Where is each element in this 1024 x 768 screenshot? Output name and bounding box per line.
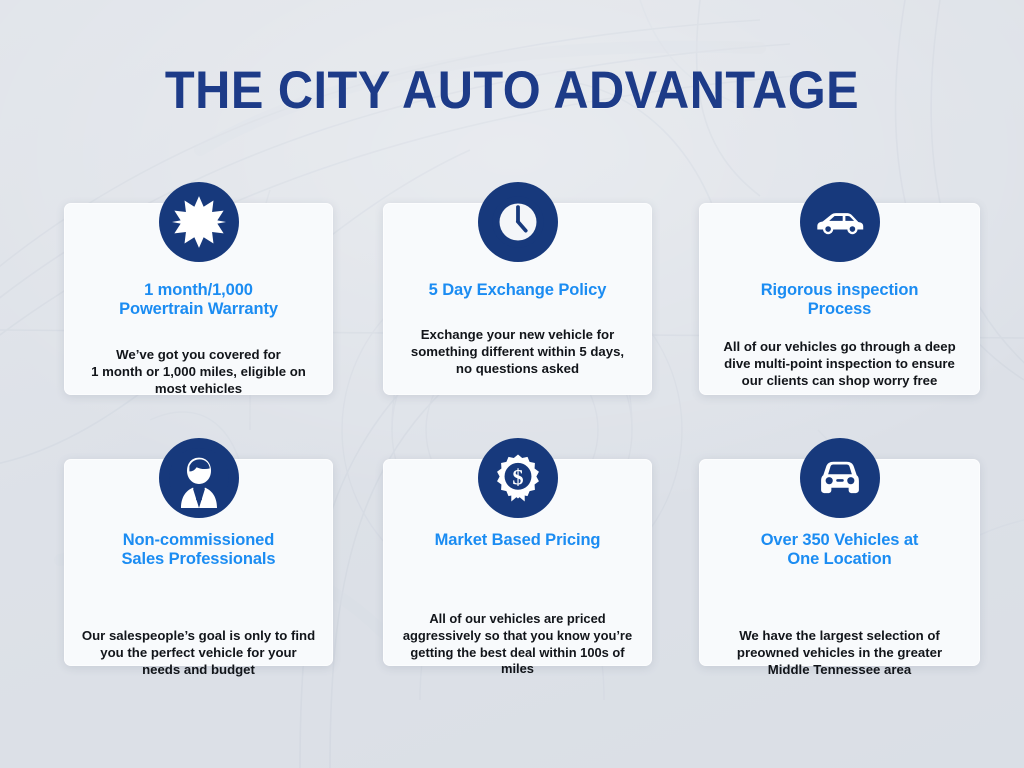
card-title: Market Based Pricing	[435, 531, 601, 550]
advantage-page: THE CITY AUTO ADVANTAGE 1 month/1,000 Po…	[0, 0, 1024, 768]
car-front-icon	[800, 438, 880, 518]
salesperson-icon	[159, 438, 239, 518]
advantage-card-sales-professionals[interactable]: Non-commissioned Sales Professionals Our…	[64, 459, 333, 666]
advantage-card-inventory[interactable]: Over 350 Vehicles at One Location We hav…	[699, 459, 980, 666]
svg-text:$: $	[512, 465, 523, 490]
card-title: 5 Day Exchange Policy	[429, 281, 607, 300]
card-title: Non-commissioned Sales Professionals	[121, 531, 275, 570]
page-title: THE CITY AUTO ADVANTAGE	[41, 64, 983, 117]
award-dollar-icon: $	[478, 438, 558, 518]
card-title: Over 350 Vehicles at One Location	[761, 531, 919, 570]
card-body: All of our vehicles are priced aggressiv…	[397, 611, 638, 677]
card-body: We have the largest selection of preowne…	[737, 628, 942, 679]
advantage-card-warranty[interactable]: 1 month/1,000 Powertrain Warranty We’ve …	[64, 203, 333, 395]
advantage-card-grid: 1 month/1,000 Powertrain Warranty We’ve …	[64, 203, 980, 666]
advantage-card-inspection[interactable]: Rigorous inspection Process All of our v…	[699, 203, 980, 395]
card-body: Our salespeople’s goal is only to find y…	[82, 628, 315, 679]
card-body: Exchange your new vehicle for something …	[411, 327, 624, 378]
card-title: Rigorous inspection Process	[761, 281, 919, 320]
advantage-card-market-pricing[interactable]: $ Market Based Pricing All of our vehicl…	[383, 459, 652, 666]
car-side-icon	[800, 182, 880, 262]
card-body: We’ve got you covered for 1 month or 1,0…	[91, 347, 306, 398]
card-body: All of our vehicles go through a deep di…	[723, 339, 955, 390]
card-title: 1 month/1,000 Powertrain Warranty	[119, 281, 278, 320]
clock-icon	[478, 182, 558, 262]
starburst-icon	[159, 182, 239, 262]
advantage-card-exchange-policy[interactable]: 5 Day Exchange Policy Exchange your new …	[383, 203, 652, 395]
